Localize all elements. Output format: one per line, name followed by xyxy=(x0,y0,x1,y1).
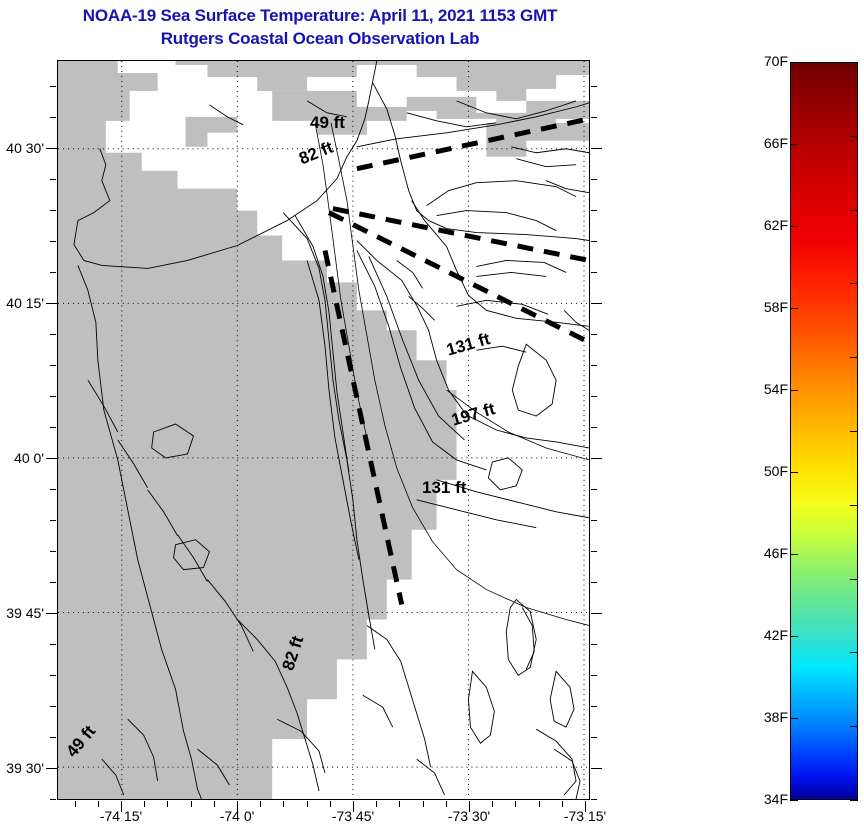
x-minor-tick xyxy=(121,801,122,807)
x-minor-tick xyxy=(214,801,215,807)
colorbar-fahrenheit-label: 42F xyxy=(748,627,788,643)
depth-contour-label: 49 ft xyxy=(310,113,345,133)
sst-colorbar-group[interactable]: 70F66F62F58F54F50F46F42F38F34F21C19C17C1… xyxy=(748,55,864,815)
land-mask-layer xyxy=(58,61,589,799)
x-minor-tick xyxy=(492,801,493,807)
x-minor-tick xyxy=(307,801,308,807)
y-major-tick-right xyxy=(591,148,602,149)
x-tick-label: -73 30' xyxy=(419,808,519,824)
y-minor-tick-right xyxy=(591,179,597,180)
y-minor-tick xyxy=(50,458,56,459)
x-minor-tick xyxy=(191,801,192,807)
x-minor-tick xyxy=(376,801,377,807)
sst-colorbar[interactable] xyxy=(790,62,858,800)
y-minor-tick xyxy=(50,86,56,87)
y-minor-tick xyxy=(50,365,56,366)
x-minor-tick xyxy=(562,801,563,807)
y-tick-label: 40 0' xyxy=(0,450,44,466)
colorbar-tick-right xyxy=(850,652,858,653)
y-minor-tick-right xyxy=(591,582,597,583)
y-tick-label: 40 15' xyxy=(0,295,44,311)
y-minor-tick-right xyxy=(591,613,597,614)
y-minor-tick xyxy=(50,117,56,118)
y-minor-tick-right xyxy=(591,675,597,676)
y-minor-tick xyxy=(50,768,56,769)
colorbar-tick-left xyxy=(790,144,798,145)
y-minor-tick xyxy=(50,675,56,676)
y-major-tick xyxy=(46,458,57,459)
colorbar-tick-right xyxy=(850,283,858,284)
y-minor-tick-right xyxy=(591,644,597,645)
x-minor-tick xyxy=(283,801,284,807)
y-minor-tick xyxy=(50,396,56,397)
colorbar-tick-left xyxy=(790,390,798,391)
colorbar-fahrenheit-label: 70F xyxy=(748,53,788,69)
map-canvas xyxy=(58,61,589,799)
y-minor-tick xyxy=(50,303,56,304)
y-minor-tick xyxy=(50,334,56,335)
colorbar-fahrenheit-label: 66F xyxy=(748,135,788,151)
y-minor-tick xyxy=(50,644,56,645)
x-minor-tick xyxy=(515,801,516,807)
y-minor-tick-right xyxy=(591,303,597,304)
y-minor-tick-right xyxy=(591,334,597,335)
y-minor-tick xyxy=(50,613,56,614)
y-major-tick-right xyxy=(591,768,602,769)
y-minor-tick-right xyxy=(591,396,597,397)
x-minor-tick xyxy=(446,801,447,807)
x-minor-tick xyxy=(260,801,261,807)
x-minor-tick xyxy=(423,801,424,807)
colorbar-tick-right xyxy=(850,62,858,63)
x-minor-tick xyxy=(330,801,331,807)
colorbar-tick-right xyxy=(850,357,858,358)
colorbar-tick-right xyxy=(850,726,858,727)
y-major-tick xyxy=(46,768,57,769)
x-tick-label: -74 0' xyxy=(187,808,287,824)
colorbar-tick-right xyxy=(850,579,858,580)
sst-map-panel[interactable] xyxy=(57,60,590,800)
title-line-1: NOAA-19 Sea Surface Temperature: April 1… xyxy=(0,4,640,27)
y-minor-tick-right xyxy=(591,768,597,769)
x-minor-tick xyxy=(399,801,400,807)
y-major-tick-right xyxy=(591,458,602,459)
colorbar-tick-right xyxy=(850,136,858,137)
x-minor-tick xyxy=(539,801,540,807)
y-minor-tick-right xyxy=(591,117,597,118)
colorbar-fahrenheit-label: 46F xyxy=(748,545,788,561)
y-minor-tick xyxy=(50,272,56,273)
x-tick-label: -74 15' xyxy=(71,808,171,824)
y-major-tick xyxy=(46,303,57,304)
colorbar-fahrenheit-label: 34F xyxy=(748,791,788,807)
colorbar-tick-left xyxy=(790,554,798,555)
colorbar-fahrenheit-label: 58F xyxy=(748,299,788,315)
y-major-tick-right xyxy=(591,613,602,614)
colorbar-fahrenheit-label: 54F xyxy=(748,381,788,397)
x-minor-tick xyxy=(98,801,99,807)
colorbar-tick-right xyxy=(850,431,858,432)
colorbar-tick-left xyxy=(790,636,798,637)
y-minor-tick-right xyxy=(591,272,597,273)
y-minor-tick xyxy=(50,427,56,428)
y-minor-tick xyxy=(50,799,56,800)
colorbar-tick-left xyxy=(790,800,798,801)
x-minor-tick xyxy=(353,801,354,807)
y-minor-tick xyxy=(50,582,56,583)
colorbar-tick-right xyxy=(850,505,858,506)
colorbar-tick-left xyxy=(790,472,798,473)
chart-title-block: NOAA-19 Sea Surface Temperature: April 1… xyxy=(0,4,640,50)
y-minor-tick-right xyxy=(591,458,597,459)
colorbar-tick-left xyxy=(790,308,798,309)
x-tick-label: -73 45' xyxy=(303,808,403,824)
colorbar-tick-right xyxy=(850,210,858,211)
x-tick-label: -73 15' xyxy=(535,808,635,824)
title-line-2: Rutgers Coastal Ocean Observation Lab xyxy=(0,27,640,50)
y-minor-tick-right xyxy=(591,799,597,800)
x-minor-tick xyxy=(144,801,145,807)
x-minor-tick xyxy=(237,801,238,807)
y-minor-tick-right xyxy=(591,427,597,428)
x-minor-tick xyxy=(469,801,470,807)
colorbar-tick-right xyxy=(850,800,858,801)
y-minor-tick xyxy=(50,520,56,521)
y-minor-tick-right xyxy=(591,148,597,149)
depth-contour-label: 131 ft xyxy=(422,478,466,498)
y-tick-label: 39 45' xyxy=(0,605,44,621)
y-minor-tick xyxy=(50,551,56,552)
y-minor-tick xyxy=(50,737,56,738)
colorbar-tick-left xyxy=(790,718,798,719)
y-minor-tick-right xyxy=(591,210,597,211)
y-minor-tick-right xyxy=(591,489,597,490)
y-minor-tick-right xyxy=(591,520,597,521)
x-minor-tick xyxy=(585,801,586,807)
y-minor-tick xyxy=(50,241,56,242)
y-minor-tick xyxy=(50,179,56,180)
y-minor-tick-right xyxy=(591,241,597,242)
y-tick-label: 40 30' xyxy=(0,140,44,156)
colorbar-tick-left xyxy=(790,226,798,227)
colorbar-fahrenheit-label: 50F xyxy=(748,463,788,479)
y-minor-tick-right xyxy=(591,551,597,552)
colorbar-tick-left xyxy=(790,62,798,63)
x-minor-tick xyxy=(75,801,76,807)
y-major-tick xyxy=(46,148,57,149)
y-minor-tick-right xyxy=(591,86,597,87)
colorbar-fahrenheit-label: 38F xyxy=(748,709,788,725)
colorbar-fahrenheit-label: 62F xyxy=(748,217,788,233)
y-minor-tick xyxy=(50,489,56,490)
y-minor-tick-right xyxy=(591,365,597,366)
y-minor-tick xyxy=(50,210,56,211)
y-minor-tick xyxy=(50,706,56,707)
y-minor-tick xyxy=(50,148,56,149)
y-minor-tick-right xyxy=(591,737,597,738)
y-major-tick-right xyxy=(591,303,602,304)
y-minor-tick-right xyxy=(591,706,597,707)
x-minor-tick xyxy=(167,801,168,807)
y-major-tick xyxy=(46,613,57,614)
y-tick-label: 39 30' xyxy=(0,760,44,776)
